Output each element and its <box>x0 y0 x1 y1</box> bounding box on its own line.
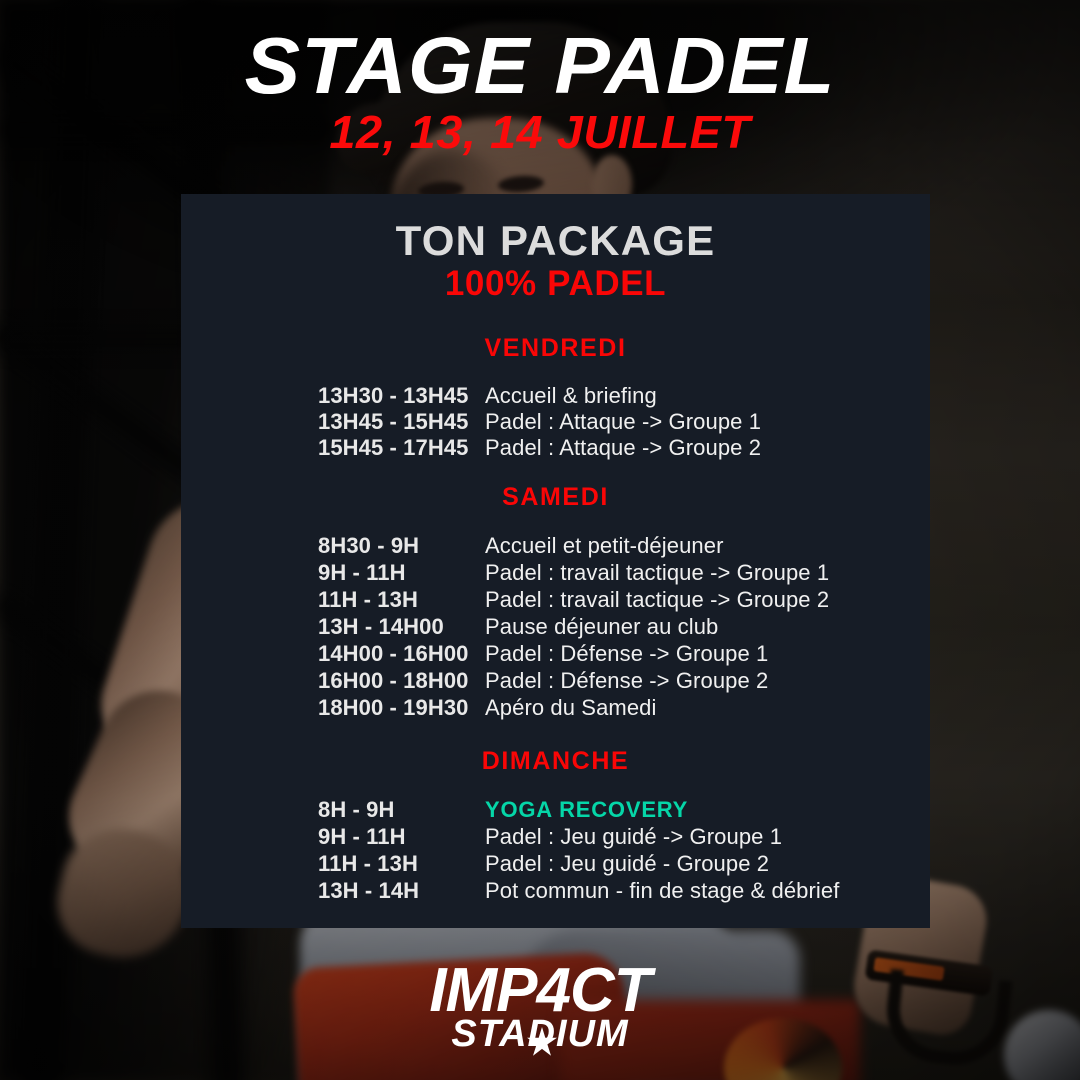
schedule-desc: Accueil & briefing <box>485 383 657 409</box>
schedule-time: 8H - 9H <box>318 796 485 823</box>
schedule-row: 15H45 - 17H45 Padel : Attaque -> Groupe … <box>318 435 930 461</box>
schedule-row: 9H - 11H Padel : travail tactique -> Gro… <box>318 559 930 586</box>
schedule-desc: Padel : Jeu guidé - Groupe 2 <box>485 850 769 877</box>
brand-logo-name-part1: IMP <box>429 956 536 1025</box>
schedule-desc: Padel : Attaque -> Groupe 1 <box>485 409 761 435</box>
schedule-row: 8H - 9H YOGA RECOVERY <box>318 796 930 823</box>
headline-title: STAGE PADEL <box>0 28 1080 105</box>
schedule-row: 13H45 - 15H45 Padel : Attaque -> Groupe … <box>318 409 930 435</box>
schedule-desc: Padel : Jeu guidé -> Groupe 1 <box>485 823 782 850</box>
schedule-desc: Padel : travail tactique -> Groupe 2 <box>485 586 829 613</box>
schedule-time: 13H30 - 13H45 <box>318 383 485 409</box>
schedule-time: 14H00 - 16H00 <box>318 640 485 667</box>
schedule-time: 9H - 11H <box>318 559 485 586</box>
schedule-desc: Padel : Défense -> Groupe 2 <box>485 667 768 694</box>
poster-canvas: STAGE PADEL 12, 13, 14 JUILLET TON PACKA… <box>0 0 1080 1080</box>
panel-title: TON PACKAGE <box>181 194 930 263</box>
schedule-rows-dimanche: 8H - 9H YOGA RECOVERY 9H - 11H Padel : J… <box>181 796 930 904</box>
schedule-desc: Accueil et petit-déjeuner <box>485 532 724 559</box>
schedule-desc: Padel : Attaque -> Groupe 2 <box>485 435 761 461</box>
headline: STAGE PADEL 12, 13, 14 JUILLET <box>0 28 1080 155</box>
schedule-desc: Pot commun - fin de stage & débrief <box>485 877 839 904</box>
schedule-row: 18H00 - 19H30 Apéro du Samedi <box>318 694 930 721</box>
brand-logo: IMP4CT STADIUM <box>0 962 1080 1053</box>
day-heading-samedi: SAMEDI <box>181 483 930 512</box>
schedule-rows-vendredi: 13H30 - 13H45 Accueil & briefing 13H45 -… <box>181 383 930 461</box>
day-block-dimanche: DIMANCHE 8H - 9H YOGA RECOVERY 9H - 11H … <box>181 747 930 904</box>
schedule-desc: Padel : Défense -> Groupe 1 <box>485 640 768 667</box>
day-block-vendredi: VENDREDI 13H30 - 13H45 Accueil & briefin… <box>181 334 930 461</box>
day-block-samedi: SAMEDI 8H30 - 9H Accueil et petit-déjeun… <box>181 483 930 721</box>
day-heading-dimanche: DIMANCHE <box>181 747 930 776</box>
schedule-desc-yoga: YOGA RECOVERY <box>485 796 688 823</box>
schedule-row: 13H - 14H00 Pause déjeuner au club <box>318 613 930 640</box>
schedule-time: 9H - 11H <box>318 823 485 850</box>
schedule-row: 11H - 13H Padel : travail tactique -> Gr… <box>318 586 930 613</box>
day-heading-vendredi: VENDREDI <box>181 334 930 363</box>
schedule-row: 11H - 13H Padel : Jeu guidé - Groupe 2 <box>318 850 930 877</box>
schedule-row: 9H - 11H Padel : Jeu guidé -> Groupe 1 <box>318 823 930 850</box>
brand-logo-glyph-4: 4 <box>537 956 570 1025</box>
panel-subtitle: 100% PADEL <box>181 265 930 304</box>
schedule-time: 11H - 13H <box>318 850 485 877</box>
schedule-row: 16H00 - 18H00 Padel : Défense -> Groupe … <box>318 667 930 694</box>
schedule-time: 13H - 14H <box>318 877 485 904</box>
schedule-time: 13H45 - 15H45 <box>318 409 485 435</box>
schedule-time: 15H45 - 17H45 <box>318 435 485 461</box>
schedule-time: 13H - 14H00 <box>318 613 485 640</box>
schedule-row: 14H00 - 16H00 Padel : Défense -> Groupe … <box>318 640 930 667</box>
schedule-row: 13H - 14H Pot commun - fin de stage & dé… <box>318 877 930 904</box>
schedule-time: 8H30 - 9H <box>318 532 485 559</box>
schedule-desc: Apéro du Samedi <box>485 694 657 721</box>
schedule-desc: Padel : travail tactique -> Groupe 1 <box>485 559 829 586</box>
schedule-panel: TON PACKAGE 100% PADEL VENDREDI 13H30 - … <box>181 194 930 928</box>
brand-logo-wordmark: IMP4CT <box>429 962 650 1019</box>
brand-logo-name-part2: CT <box>570 956 651 1025</box>
schedule-time: 16H00 - 18H00 <box>318 667 485 694</box>
schedule-row: 13H30 - 13H45 Accueil & briefing <box>318 383 930 409</box>
schedule-time: 11H - 13H <box>318 586 485 613</box>
headline-dates: 12, 13, 14 JUILLET <box>0 109 1080 155</box>
schedule-time: 18H00 - 19H30 <box>318 694 485 721</box>
schedule-row: 8H30 - 9H Accueil et petit-déjeuner <box>318 532 930 559</box>
schedule-desc: Pause déjeuner au club <box>485 613 718 640</box>
schedule-rows-samedi: 8H30 - 9H Accueil et petit-déjeuner 9H -… <box>181 532 930 721</box>
